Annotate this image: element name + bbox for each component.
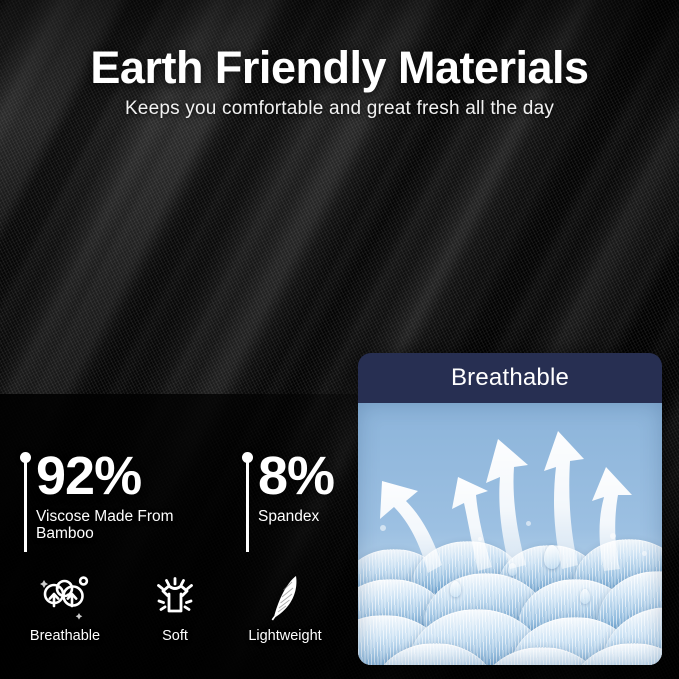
stat-value: 8%: [258, 452, 334, 502]
stat-viscose: 92% Viscose Made From Bamboo: [18, 452, 196, 552]
fabric-loop-field: [358, 403, 662, 665]
breathable-card: Breathable: [358, 353, 662, 665]
feature-label: Soft: [162, 628, 188, 644]
feature-label: Breathable: [30, 628, 100, 644]
airflow-arrows: [358, 403, 662, 665]
lightweight-feather-icon: [262, 572, 308, 624]
feature-label: Lightweight: [248, 628, 321, 644]
card-title: Breathable: [358, 353, 662, 403]
page-title: Earth Friendly Materials: [0, 42, 679, 94]
pin-marker-icon: [240, 452, 254, 552]
stat-value: 92%: [36, 452, 196, 502]
stat-label: Spandex: [258, 508, 334, 525]
stat-label: Viscose Made From Bamboo: [36, 508, 196, 543]
soft-tshirt-icon: [150, 572, 200, 624]
composition-stats: 92% Viscose Made From Bamboo 8% Spandex: [18, 452, 334, 552]
stat-spandex: 8% Spandex: [240, 452, 334, 552]
pin-marker-icon: [18, 452, 32, 552]
feature-soft: Soft: [120, 572, 230, 644]
feature-lightweight: Lightweight: [230, 572, 340, 644]
feature-list: Breathable Soft: [10, 572, 340, 644]
page-subtitle: Keeps you comfortable and great fresh al…: [0, 98, 679, 120]
breathability-illustration: [358, 403, 662, 665]
product-feature-image: Earth Friendly Materials Keeps you comfo…: [0, 0, 679, 679]
feature-breathable: Breathable: [10, 572, 120, 644]
breathable-cloud-arrows-icon: [39, 572, 91, 624]
